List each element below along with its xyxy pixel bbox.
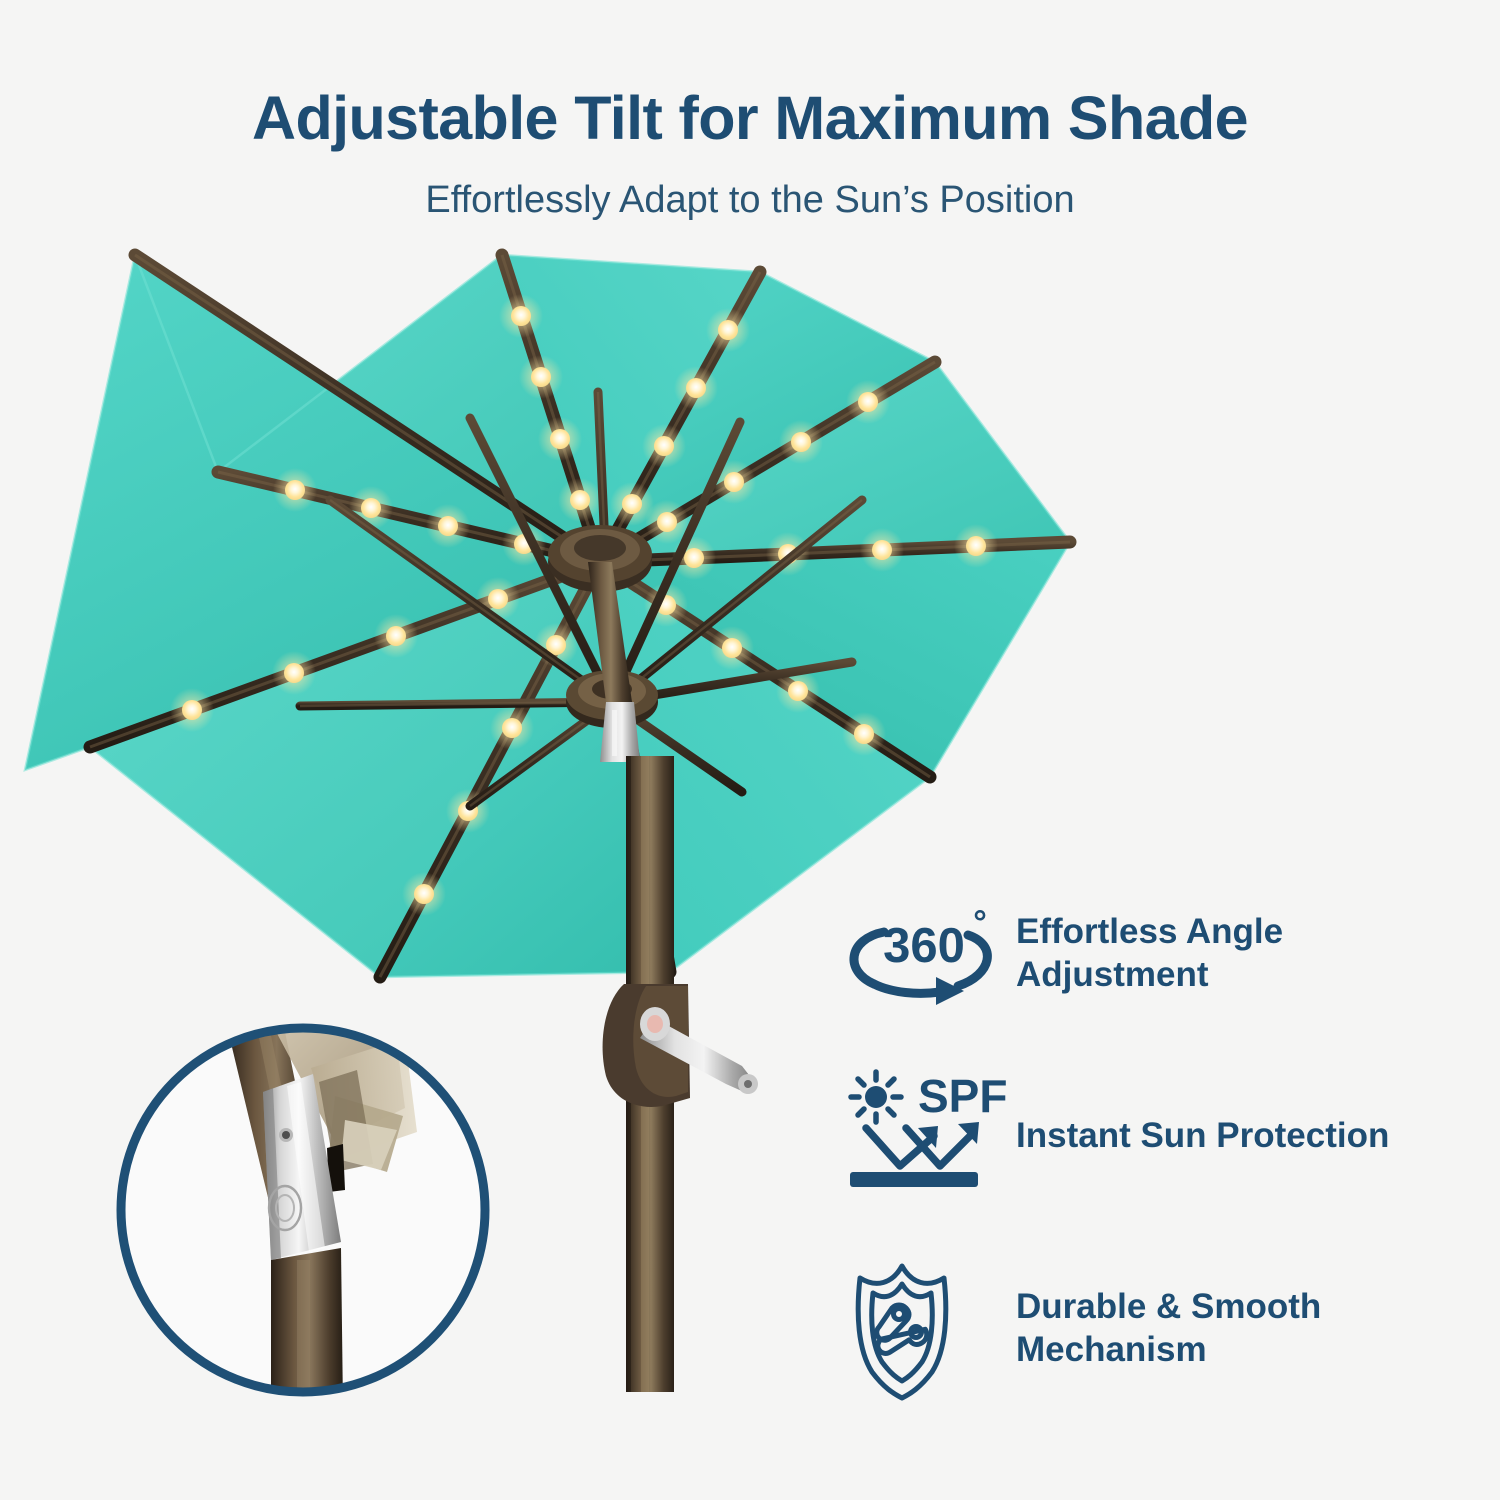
- shield-wrenches-icon: [840, 1254, 1008, 1404]
- 360-rotation-icon: 360 °: [840, 899, 1008, 1009]
- sun-icon: [851, 1072, 901, 1122]
- protection-surface-bar: [850, 1172, 978, 1187]
- tilt-mechanism-inset: [105, 1012, 501, 1408]
- uv-deflection-arrows: [866, 1128, 974, 1166]
- tilt-joint: [600, 702, 640, 762]
- feature-item-durable-smooth-mechanism: Durable & Smooth Mechanism: [840, 1254, 1480, 1404]
- feature-item-instant-sun-protection: SPF Instant Sun Protection: [840, 1066, 1480, 1206]
- 360-icon-text: 360: [883, 919, 965, 973]
- inset-content: [105, 1012, 501, 1408]
- feature-list: 360 ° Effortless Angle Adjustment: [840, 890, 1480, 1452]
- page-subtitle: Effortlessly Adapt to the Sun’s Position: [0, 149, 1500, 219]
- page-title: Adjustable Tilt for Maximum Shade: [0, 0, 1500, 149]
- feature-item-effortless-angle-adjustment: 360 ° Effortless Angle Adjustment: [840, 890, 1480, 1018]
- feature-label: Durable & Smooth Mechanism: [1008, 1286, 1480, 1371]
- header-block: Adjustable Tilt for Maximum Shade Effort…: [0, 0, 1500, 219]
- feature-label: Effortless Angle Adjustment: [1008, 911, 1480, 996]
- spf-icon-text: SPF: [918, 1070, 1007, 1122]
- crank-handle[interactable]: [603, 984, 758, 1107]
- degree-symbol: °: [973, 904, 987, 942]
- spf-sun-deflection-icon: SPF: [840, 1066, 1008, 1206]
- feature-label: Instant Sun Protection: [1008, 1115, 1389, 1158]
